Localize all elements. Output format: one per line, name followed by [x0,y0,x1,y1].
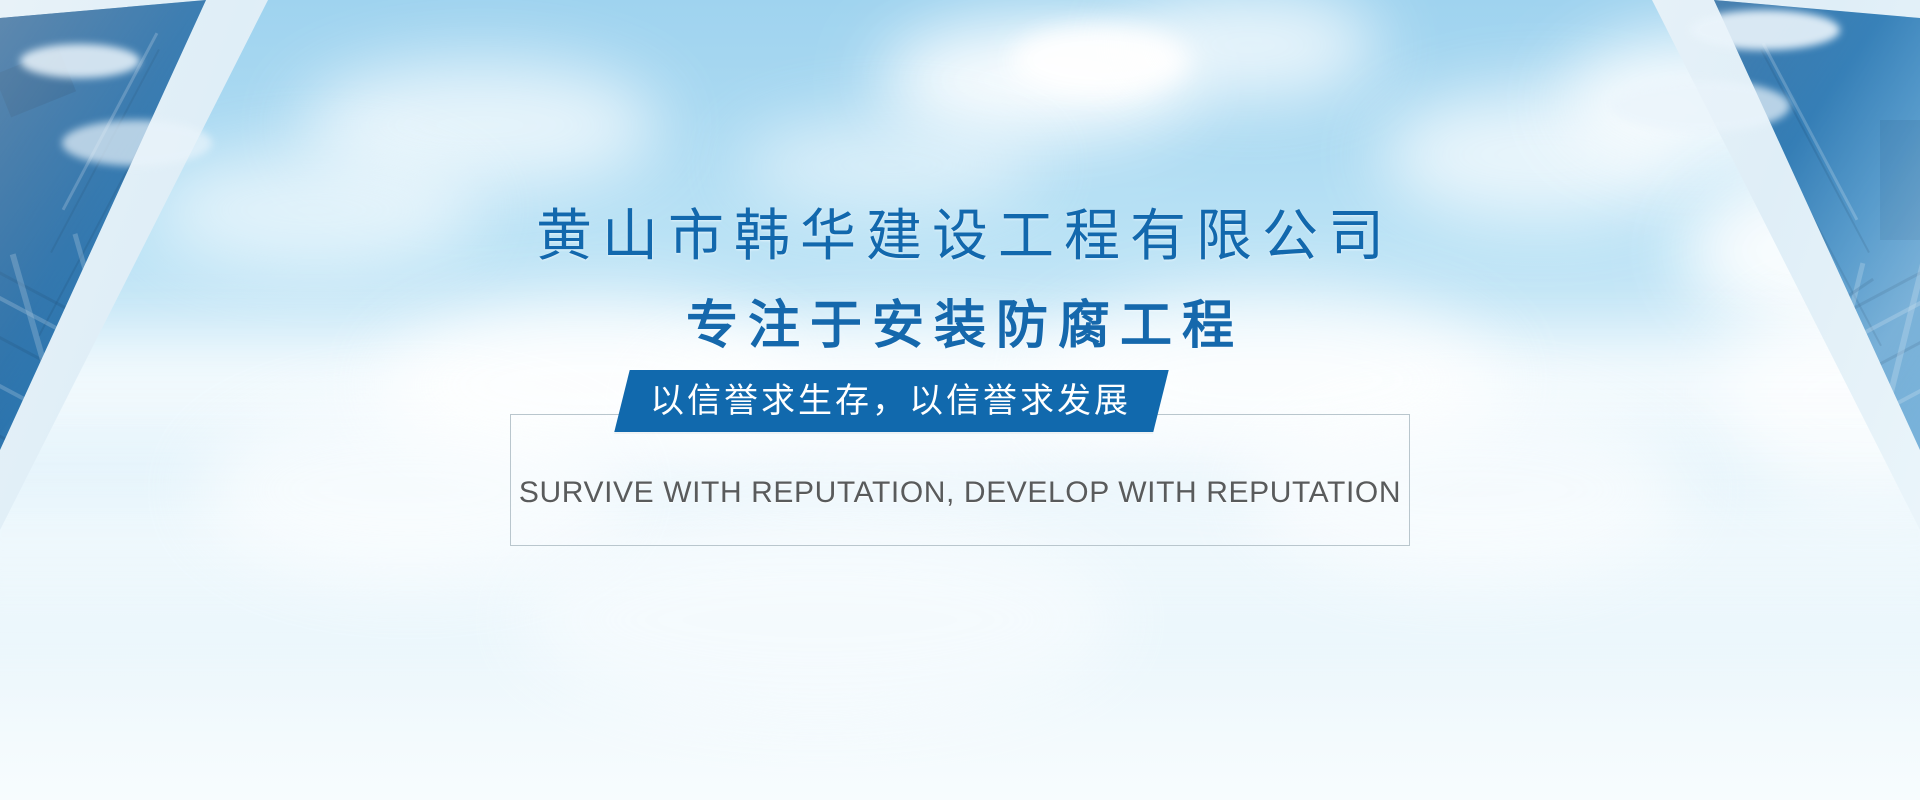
banner-subtitle: 专注于安装防腐工程 [676,300,1244,352]
hero-banner: 黄山市韩华建设工程有限公司 专注于安装防腐工程 以信誉求生存，以信誉求发展 SU… [0,0,1920,800]
slogan-english-text: SURVIVE WITH REPUTATION, DEVELOP WITH RE… [510,476,1410,510]
slogan-ribbon: 以信誉求生存，以信誉求发展 [614,370,1168,432]
company-name: 黄山市韩华建设工程有限公司 [526,208,1394,264]
banner-content: 黄山市韩华建设工程有限公司 专注于安装防腐工程 以信誉求生存，以信誉求发展 SU… [0,0,1920,800]
slogan-group: 以信誉求生存，以信誉求发展 SURVIVE WITH REPUTATION, D… [510,414,1410,546]
ribbon-slogan-text: 以信誉求生存，以信誉求发展 [650,384,1131,418]
